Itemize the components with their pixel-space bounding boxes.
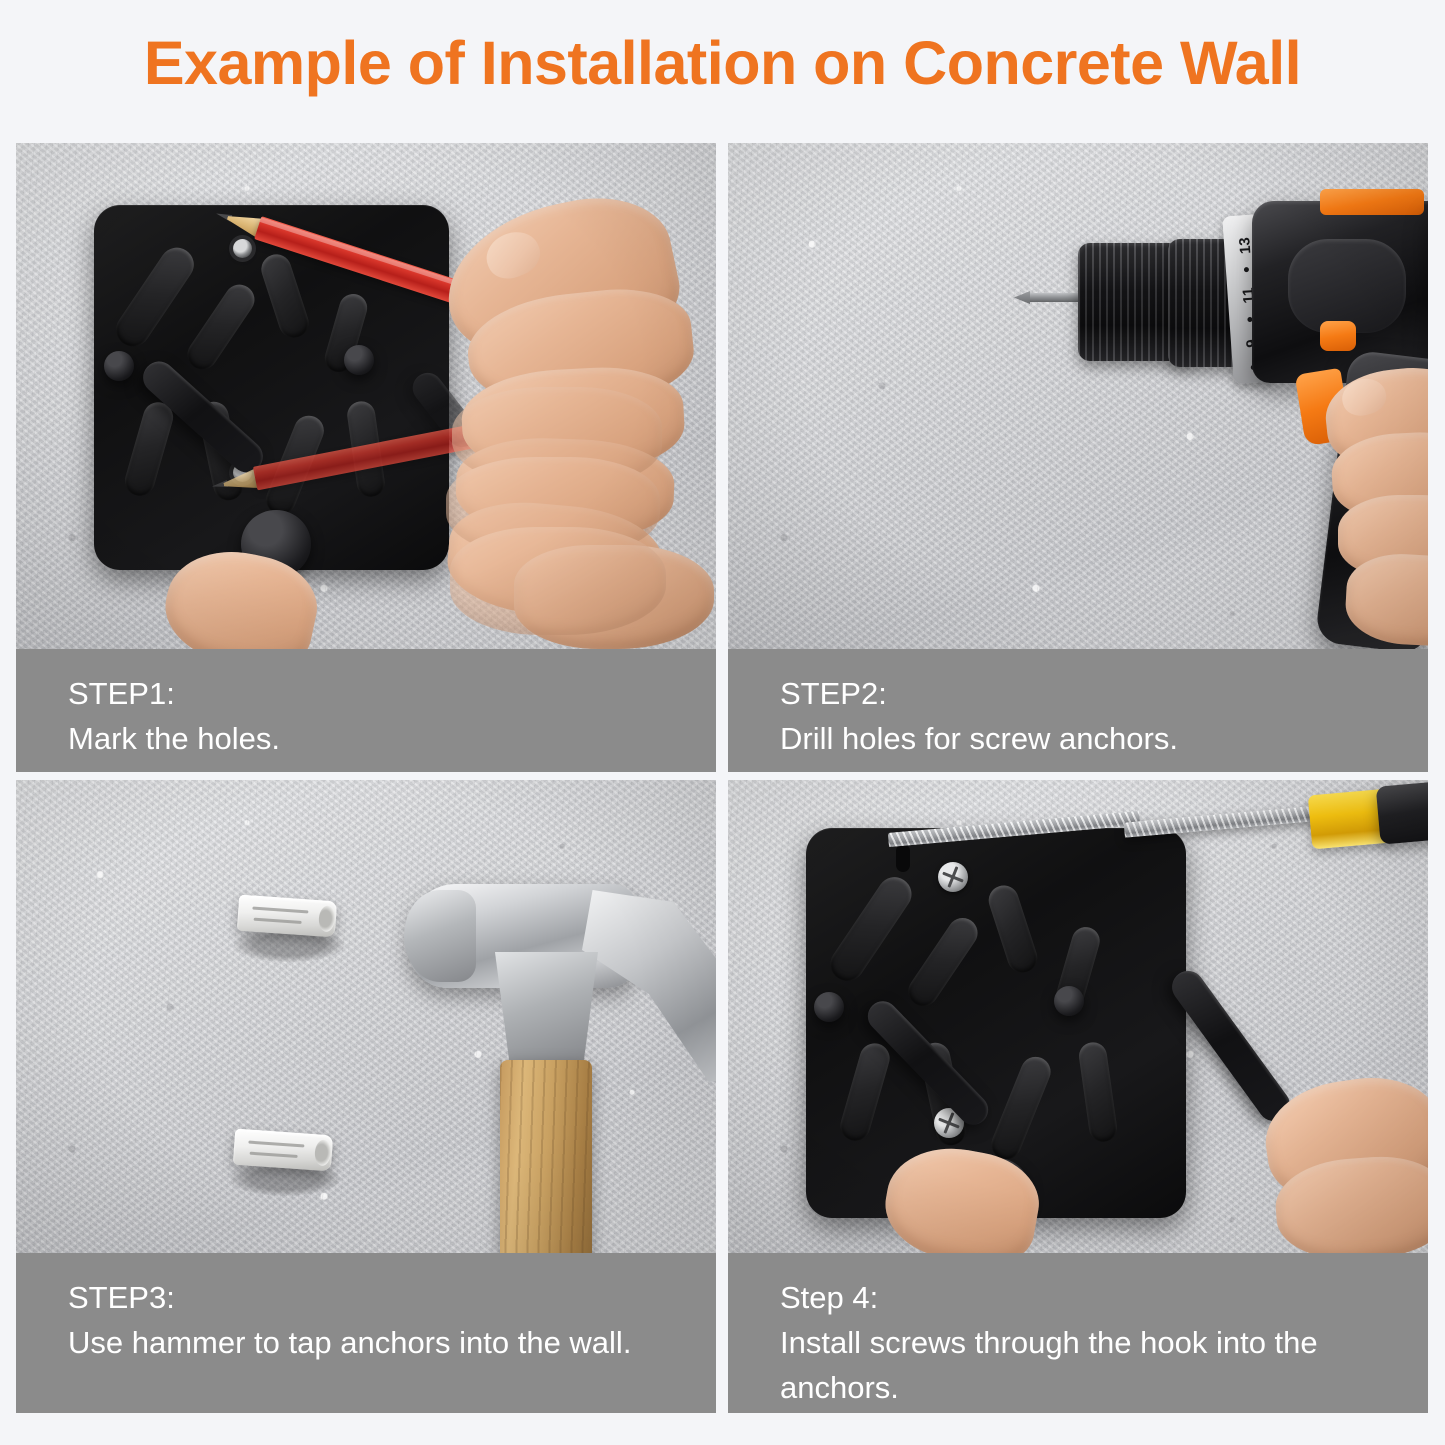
steps-grid: STEP1: Mark the holes. 13 <box>16 143 1428 1413</box>
step-3-caption: STEP3: Use hammer to tap anchors into th… <box>16 1253 716 1413</box>
step-1-caption: STEP1: Mark the holes. <box>16 649 716 772</box>
step-panel-4: Step 4: Install screws through the hook … <box>728 780 1428 1413</box>
step-3-text: Use hammer to tap anchors into the wall. <box>68 1320 668 1365</box>
step-3-label: STEP3: <box>68 1275 716 1320</box>
step-4-label: Step 4: <box>780 1275 1428 1320</box>
step-2-label: STEP2: <box>780 671 1428 716</box>
step-4-caption: Step 4: Install screws through the hook … <box>728 1253 1428 1413</box>
step-panel-3: STEP3: Use hammer to tap anchors into th… <box>16 780 716 1413</box>
step-4-photo <box>728 780 1428 1253</box>
step-2-text: Drill holes for screw anchors. <box>780 716 1380 761</box>
step-3-photo <box>16 780 716 1253</box>
step-1-text: Mark the holes. <box>68 716 668 761</box>
photo-vignette-1 <box>16 143 716 649</box>
step-panel-2: 13 11 9 <box>728 143 1428 772</box>
step-2-photo: 13 11 9 <box>728 143 1428 649</box>
photo-vignette-3 <box>16 780 716 1253</box>
step-panel-1: STEP1: Mark the holes. <box>16 143 716 772</box>
step-2-caption: STEP2: Drill holes for screw anchors. <box>728 649 1428 772</box>
page-title: Example of Installation on Concrete Wall <box>0 28 1445 98</box>
step-1-label: STEP1: <box>68 671 716 716</box>
photo-vignette-2 <box>728 143 1428 649</box>
step-1-photo <box>16 143 716 649</box>
installation-guide-page: Example of Installation on Concrete Wall <box>0 0 1445 1445</box>
step-4-text: Install screws through the hook into the… <box>780 1320 1380 1410</box>
photo-vignette-4 <box>728 780 1428 1253</box>
